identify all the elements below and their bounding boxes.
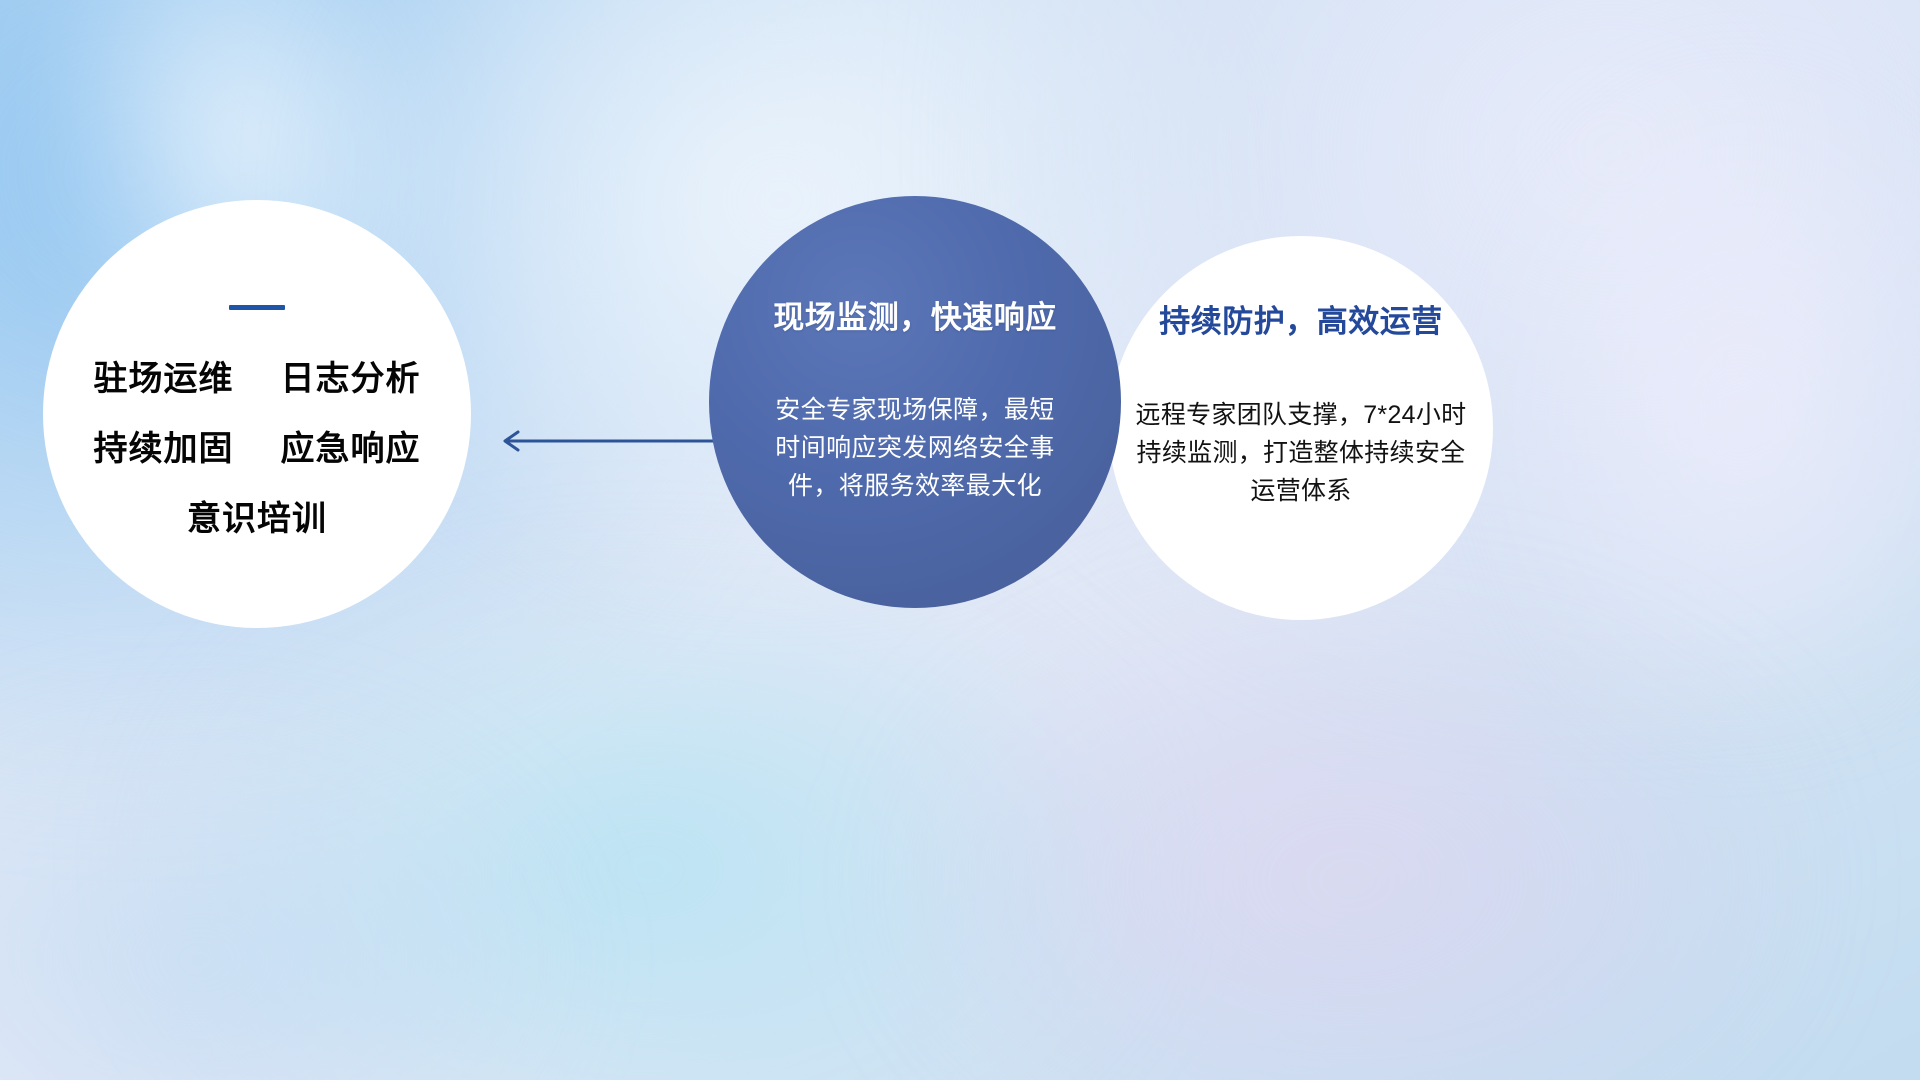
left-service-line-2: 持续加固 应急响应: [94, 432, 421, 466]
left-service-line-3: 意识培训: [187, 502, 327, 536]
left-service-item-1: 驻场运维: [94, 360, 234, 398]
right-circle-content: 持续防护，高效运营 远程专家团队支撑，7*24小时持续监测，打造整体持续安全运营…: [1109, 236, 1493, 620]
left-services-circle[interactable]: 驻场运维 日志分析 持续加固 应急响应 意识培训: [43, 200, 471, 628]
left-service-item-3: 持续加固: [94, 430, 234, 468]
right-circle-body: 远程专家团队支撑，7*24小时持续监测，打造整体持续安全运营体系: [1131, 396, 1471, 510]
left-service-line-1: 驻场运维 日志分析: [94, 362, 421, 396]
left-service-item-2: 日志分析: [280, 360, 420, 398]
arrow-left-icon: [492, 418, 722, 464]
right-feature-circle[interactable]: 持续防护，高效运营 远程专家团队支撑，7*24小时持续监测，打造整体持续安全运营…: [1109, 236, 1493, 620]
middle-circle-title: 现场监测，快速响应: [773, 292, 1057, 337]
background-glow-bottom-left: [0, 700, 580, 1080]
right-circle-title: 持续防护，高效运营: [1159, 296, 1443, 341]
slide-canvas: 驻场运维 日志分析 持续加固 应急响应 意识培训 持续防护，高效运营 远程专家团…: [0, 0, 1920, 1080]
accent-dash-divider: [229, 305, 285, 310]
arrow-left-svg: [492, 418, 722, 464]
left-circle-content: 驻场运维 日志分析 持续加固 应急响应 意识培训: [43, 200, 471, 628]
background-glow-bottom-lilac: [900, 600, 1800, 1080]
left-service-item-4: 应急响应: [280, 430, 420, 468]
middle-circle-content: 现场监测，快速响应 安全专家现场保障，最短时间响应突发网络安全事件，将服务效率最…: [709, 196, 1121, 608]
middle-feature-circle[interactable]: 现场监测，快速响应 安全专家现场保障，最短时间响应突发网络安全事件，将服务效率最…: [709, 196, 1121, 608]
left-service-item-5: 意识培训: [187, 500, 327, 538]
middle-circle-body: 安全专家现场保障，最短时间响应突发网络安全事件，将服务效率最大化: [765, 391, 1065, 505]
